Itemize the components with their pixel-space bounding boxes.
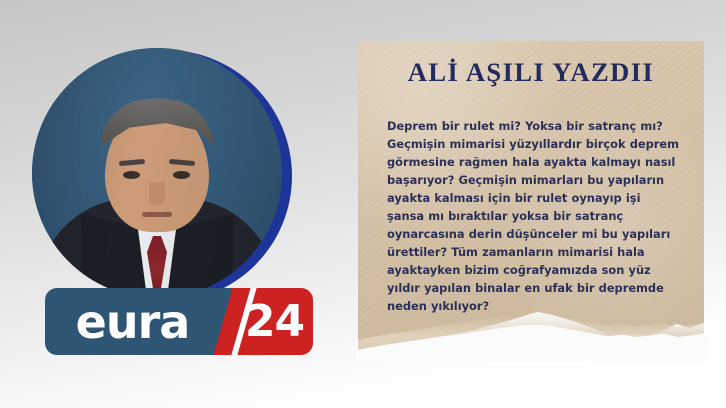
graphic-canvas: eura 24 ALİ AŞILI YAZDII Deprem bir rule… (0, 0, 726, 408)
torn-paper-note: ALİ AŞILI YAZDII Deprem bir rulet mi? Yo… (358, 41, 704, 359)
portrait-photo (32, 48, 282, 298)
portrait-eye-left (123, 171, 140, 179)
logo-wordmark: eura (76, 299, 202, 345)
portrait-mouth (142, 212, 172, 217)
portrait-block (14, 44, 302, 308)
article-headline: ALİ AŞILI YAZDII (355, 59, 708, 88)
portrait-nose (149, 182, 165, 206)
eura24-logo: eura 24 (45, 288, 313, 355)
logo-number: 24 (241, 300, 304, 344)
article-body: Deprem bir rulet mi? Yoksa bir satranç m… (387, 117, 680, 315)
portrait-eye-right (173, 171, 190, 179)
logo-navy-panel: eura (45, 288, 232, 355)
paper-content: ALİ AŞILI YAZDII Deprem bir rulet mi? Yo… (358, 41, 704, 359)
logo-red-panel: 24 (232, 288, 313, 355)
